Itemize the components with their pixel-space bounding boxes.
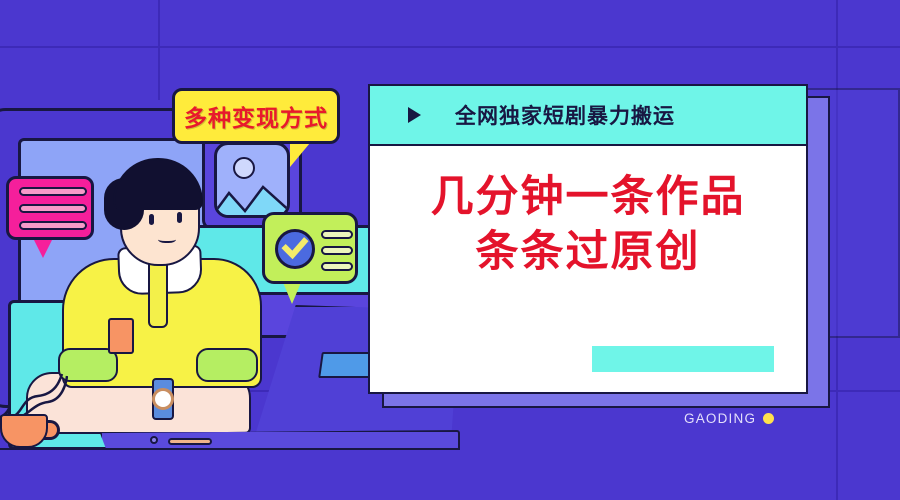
card-body: 几分钟一条作品 条条过原创	[370, 146, 806, 392]
watermark: GAODING	[684, 411, 774, 426]
headline-line-1: 几分钟一条作品	[431, 170, 746, 225]
card-header: 全网独家短剧暴力搬运	[370, 86, 806, 146]
mountain-shape	[214, 171, 290, 218]
bubble-text-line	[19, 221, 87, 230]
check-circle-icon	[275, 229, 315, 269]
grid-line-horizontal	[0, 46, 900, 48]
badge-tail	[290, 143, 310, 167]
character-sleeve-right	[196, 348, 258, 382]
character-pocket	[108, 318, 134, 354]
promo-badge: 多种变现方式	[172, 88, 340, 144]
bubble-text-line	[19, 187, 87, 196]
play-triangle-icon	[408, 107, 421, 123]
content-card: 全网独家短剧暴力搬运 几分钟一条作品 条条过原创	[368, 84, 808, 394]
eye-right	[177, 212, 182, 223]
steam-shape	[4, 372, 68, 420]
wristwatch-face	[152, 388, 174, 410]
promo-badge-text: 多种变现方式	[184, 99, 328, 133]
eye-left	[149, 214, 154, 225]
laptop-indicator-dot	[150, 436, 158, 444]
grid-line-vertical	[158, 0, 160, 100]
bubble-text-line	[321, 246, 353, 255]
headline-line-2: 条条过原创	[476, 225, 701, 280]
desk-surface	[0, 448, 460, 500]
pink-speech-bubble	[6, 176, 94, 240]
character-tie	[148, 258, 168, 328]
watermark-text: GAODING	[684, 411, 756, 426]
bubble-text-line	[321, 230, 353, 239]
image-placeholder-icon	[214, 142, 290, 218]
poster-canvas: 全网独家短剧暴力搬运 几分钟一条作品 条条过原创 多种变现方式 GAODING	[0, 0, 900, 500]
mouth	[158, 234, 176, 243]
coffee-cup	[0, 414, 48, 448]
card-accent-strip	[592, 346, 774, 372]
watermark-dot-icon	[763, 413, 774, 424]
bubble-text-line	[321, 262, 353, 271]
bubble-text-line	[19, 204, 87, 213]
card-header-title: 全网独家短剧暴力搬运	[455, 100, 675, 130]
laptop-trackpad-bar	[168, 438, 212, 445]
green-speech-bubble	[262, 212, 358, 284]
